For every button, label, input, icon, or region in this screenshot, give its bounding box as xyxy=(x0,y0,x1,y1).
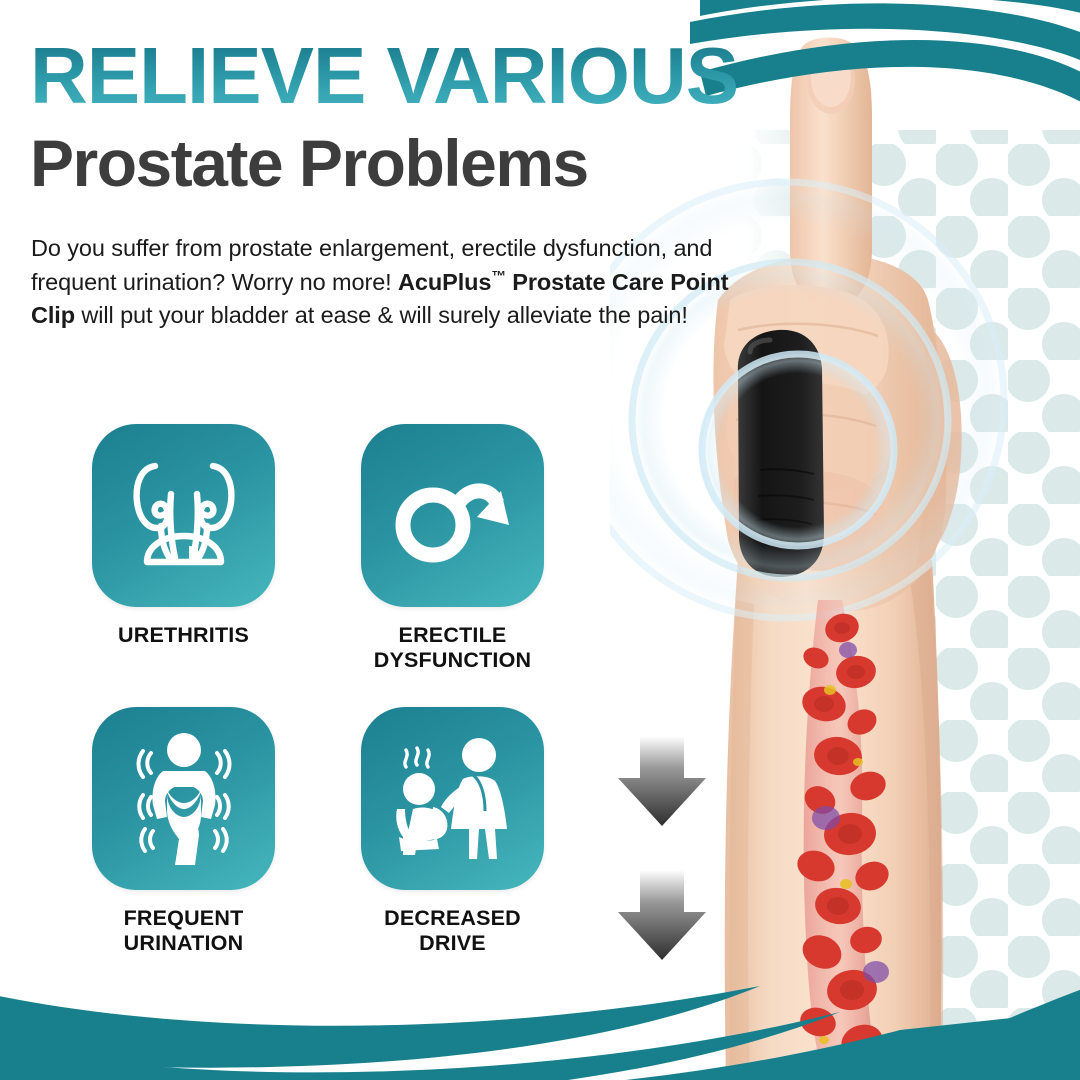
symptom-card-decreased-drive[interactable]: DECREASEDDRIVE xyxy=(361,707,544,956)
symptom-tile-urethritis xyxy=(92,424,275,607)
headline-secondary: Prostate Problems xyxy=(30,129,790,198)
person-holding-bladder-icon xyxy=(123,731,245,865)
symptom-label-frequent-urination: FREQUENTURINATION xyxy=(124,906,244,956)
body-copy: Do you suffer from prostate enlargement,… xyxy=(31,232,731,333)
symptom-label-decreased-drive: DECREASEDDRIVE xyxy=(384,906,521,956)
trademark-symbol: ™ xyxy=(491,269,505,285)
symptom-tile-decreased-drive xyxy=(361,707,544,890)
urinary-system-icon xyxy=(125,454,243,578)
symptom-tile-erectile-dysfunction xyxy=(361,424,544,607)
headline-block: RELIEVE VARIOUS Prostate Problems xyxy=(30,38,790,198)
symptom-label-urethritis: URETHRITIS xyxy=(118,623,249,648)
body-sentence-2: will put your bladder at ease & will sur… xyxy=(75,302,688,328)
flow-arrow-down xyxy=(618,736,706,826)
symptom-label-erectile-dysfunction: ERECTILEDYSFUNCTION xyxy=(374,623,531,673)
symptom-card-erectile-dysfunction[interactable]: ERECTILEDYSFUNCTION xyxy=(361,424,544,673)
flow-arrow-down-2 xyxy=(618,870,706,960)
headline-primary: RELIEVE VARIOUS xyxy=(30,38,790,115)
symptom-row-2: FREQUENTURINATION xyxy=(92,707,562,956)
symptom-tile-frequent-urination xyxy=(92,707,275,890)
drooping-male-symbol-icon xyxy=(393,463,513,569)
brand-name-text: AcuPlus xyxy=(398,269,491,295)
symptom-card-urethritis[interactable]: URETHRITIS xyxy=(92,424,275,673)
symptom-row-1: URETHRITIS ERECTILEDYSFUNCTION xyxy=(92,424,562,673)
advertisement-canvas: RELIEVE VARIOUS Prostate Problems Do you… xyxy=(0,0,1080,1080)
symptom-card-frequent-urination[interactable]: FREQUENTURINATION xyxy=(92,707,275,956)
symptom-card-grid: URETHRITIS ERECTILEDYSFUNCTION xyxy=(92,424,562,956)
discouraged-couple-icon xyxy=(389,733,517,863)
